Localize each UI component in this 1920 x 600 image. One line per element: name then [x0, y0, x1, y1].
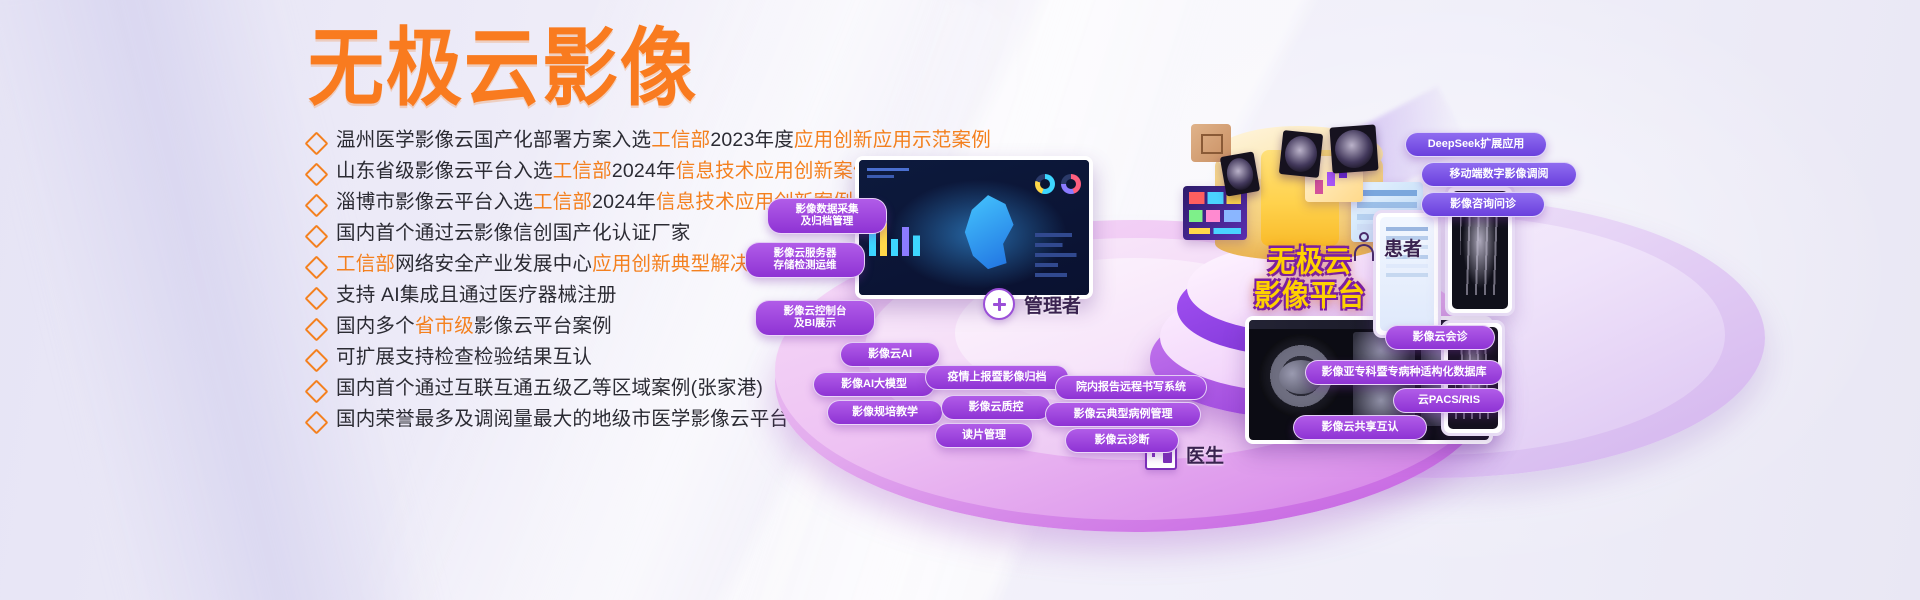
- capability-tag: 影像云诊断: [1065, 428, 1179, 453]
- capability-tag-line1: 移动端数字影像调阅: [1450, 168, 1549, 181]
- text-segment: 国内首个通过云影像信创国产化认证厂家: [336, 222, 691, 244]
- text-segment: 2024年: [592, 191, 656, 213]
- capability-tag-line2: 及归档管理: [801, 216, 854, 228]
- text-segment: 国内首个通过互联互通五级乙等区域案例(张家港): [336, 377, 763, 399]
- capability-tag-line1: 疫情上报暨影像归档: [948, 371, 1047, 384]
- capability-tag: 影像云共享互认: [1293, 415, 1427, 440]
- plus-circle-icon: [983, 288, 1015, 320]
- diamond-bullet-icon: [304, 131, 328, 155]
- patient-report-phone: [1373, 210, 1441, 338]
- dashboard-donut-chart: [1061, 174, 1081, 194]
- capability-tag-line1: 云PACS/RIS: [1418, 394, 1480, 407]
- list-item-text: 工信部网络安全产业发展中心应用创新典型解决方案: [336, 252, 789, 276]
- admin-dashboard-screen: [855, 156, 1093, 299]
- capability-tag: DeepSeek扩展应用: [1405, 132, 1547, 157]
- chest-xray-icon: [1460, 205, 1500, 295]
- capability-tag-line1: 影像咨询问诊: [1450, 198, 1516, 211]
- capability-tag: 影像亚专科暨专病种适构化数据库: [1305, 360, 1503, 385]
- text-segment: 温州医学影像云国产化部署方案入选: [336, 129, 651, 151]
- capability-tag-line2: 存储检测运维: [774, 260, 837, 272]
- capability-tag-line1: 影像云典型病例管理: [1074, 408, 1173, 421]
- center-logo-line1: 无极云: [1268, 245, 1352, 279]
- text-segment: 2024年: [612, 160, 676, 182]
- list-item-text: 可扩展支持检查检验结果互认: [336, 345, 592, 369]
- capability-tag: 移动端数字影像调阅: [1421, 162, 1577, 187]
- text-segment: 省市级: [415, 315, 474, 337]
- dashboard-map-icon: [960, 195, 1018, 269]
- capability-tag: 影像咨询问诊: [1421, 192, 1545, 217]
- role-patient-label: 患者: [1384, 234, 1422, 261]
- list-item-text: 国内多个省市级影像云平台案例: [336, 314, 612, 338]
- capability-tag-line1: 影像云质控: [969, 401, 1024, 414]
- text-segment: 淄博市影像云平台入选: [336, 191, 533, 213]
- capability-tag-line1: 影像云诊断: [1095, 434, 1150, 447]
- diamond-bullet-icon: [304, 193, 328, 217]
- banner-root: 无极云影像 温州医学影像云国产化部署方案入选工信部2023年度应用创新应用示范案…: [0, 0, 1920, 600]
- capability-tag: 读片管理: [935, 423, 1033, 448]
- capability-tag: 影像云服务器存储检测运维: [745, 242, 865, 278]
- capability-tag: 影像数据采集及归档管理: [767, 198, 887, 234]
- diamond-bullet-icon: [304, 286, 328, 310]
- capability-tag: 影像AI大模型: [813, 372, 935, 397]
- diamond-bullet-icon: [304, 410, 328, 434]
- capability-tag: 影像规培教学: [827, 400, 943, 425]
- diamond-bullet-icon: [304, 379, 328, 403]
- dashboard-table-rows: [1035, 233, 1081, 285]
- dashboard-canvas: [859, 160, 1089, 295]
- capability-tag-line1: DeepSeek扩展应用: [1428, 138, 1525, 151]
- capability-tag-line1: 影像云AI: [868, 348, 912, 361]
- capability-tag-line1: 影像云共享互认: [1322, 421, 1399, 434]
- diamond-bullet-icon: [304, 317, 328, 341]
- xray-thumb-icon: [1329, 124, 1378, 173]
- capability-tag-line1: 院内报告远程书写系统: [1076, 381, 1186, 394]
- role-admin: 管理者: [983, 288, 1081, 320]
- list-item-text: 国内首个通过云影像信创国产化认证厂家: [336, 221, 691, 245]
- capability-tag: 疫情上报暨影像归档: [925, 365, 1069, 390]
- text-segment: 工信部: [336, 253, 395, 275]
- person-icon: [1353, 232, 1375, 262]
- text-segment: 网络安全产业发展中心: [395, 253, 592, 275]
- capability-tag: 影像云质控: [941, 395, 1051, 420]
- text-segment: 工信部: [553, 160, 612, 182]
- capability-tag-line1: 影像AI大模型: [841, 378, 907, 391]
- text-segment: 可扩展支持检查检验结果互认: [336, 346, 592, 368]
- capability-tag-line1: 影像云会诊: [1413, 331, 1468, 344]
- text-segment: 影像云平台案例: [474, 315, 612, 337]
- text-segment: 支持 AI集成且通过医疗器械注册: [336, 284, 617, 306]
- platform-illustration: 无极云 影像平台: [745, 120, 1920, 585]
- text-segment: 山东省级影像云平台入选: [336, 160, 553, 182]
- capability-tag: 云PACS/RIS: [1393, 388, 1505, 413]
- text-segment: 工信部: [651, 129, 710, 151]
- diamond-bullet-icon: [304, 255, 328, 279]
- capability-tag: 院内报告远程书写系统: [1055, 375, 1207, 400]
- capability-tag: 影像云控制台及BI展示: [755, 300, 875, 336]
- text-segment: 工信部: [533, 191, 592, 213]
- capability-tag-line1: 读片管理: [962, 429, 1006, 442]
- diamond-bullet-icon: [304, 162, 328, 186]
- capability-tag-line2: 及BI展示: [794, 318, 836, 330]
- capability-tag: 影像云AI: [840, 342, 940, 367]
- diamond-bullet-icon: [304, 348, 328, 372]
- text-segment: 国内多个: [336, 315, 415, 337]
- role-patient: 患者: [1353, 232, 1422, 262]
- capability-tag-line1: 影像亚专科暨专病种适构化数据库: [1322, 366, 1487, 379]
- list-item-text: 支持 AI集成且通过医疗器械注册: [336, 283, 617, 307]
- diamond-bullet-icon: [304, 224, 328, 248]
- capability-tag-line1: 影像规培教学: [852, 406, 918, 419]
- xray-thumb-icon: [1220, 151, 1260, 196]
- dashboard-header-lines: [867, 168, 927, 182]
- center-logo-line2: 影像平台: [1254, 279, 1366, 313]
- capability-tag: 影像云典型病例管理: [1045, 402, 1201, 427]
- role-admin-label: 管理者: [1024, 291, 1081, 318]
- xray-thumb-icon: [1279, 130, 1323, 178]
- dashboard-donut-chart: [1035, 174, 1055, 194]
- capability-tag: 影像云会诊: [1385, 325, 1495, 350]
- role-doctor-label: 医生: [1186, 441, 1224, 468]
- list-item-text: 国内首个通过互联互通五级乙等区域案例(张家港): [336, 376, 763, 400]
- page-title: 无极云影像: [308, 26, 698, 111]
